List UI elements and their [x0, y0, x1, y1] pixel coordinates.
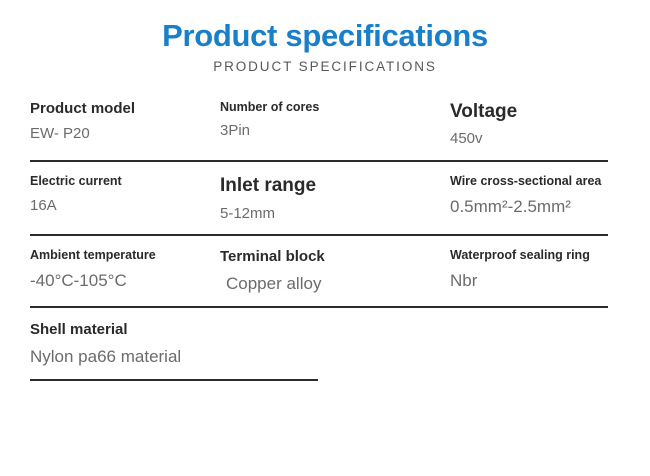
spec-label: Number of cores	[220, 100, 425, 116]
spec-cell-waterproof-sealing-ring: Waterproof sealing ring Nbr	[425, 248, 650, 292]
spec-cell-inlet-range: Inlet range 5-12mm	[210, 174, 425, 223]
spec-label: Voltage	[450, 100, 650, 124]
spec-label: Electric current	[30, 174, 210, 190]
spec-value: Nbr	[450, 270, 650, 292]
spec-label: Inlet range	[220, 174, 425, 198]
spec-label: Ambient temperature	[30, 248, 210, 264]
page-header: Product specifications PRODUCT SPECIFICA…	[0, 0, 650, 74]
spec-cell-terminal-block: Terminal block Copper alloy	[210, 248, 425, 295]
spec-cell-product-model: Product model EW- P20	[0, 100, 210, 144]
spec-row: Shell material Nylon pa66 material	[0, 308, 650, 381]
spec-value: 16A	[30, 196, 210, 216]
spec-row: Product model EW- P20 Number of cores 3P…	[0, 100, 650, 162]
spec-cell-electric-current: Electric current 16A	[0, 174, 210, 215]
spec-value: 450v	[450, 129, 650, 149]
spec-label: Shell material	[30, 321, 420, 340]
spec-cell-shell-material: Shell material Nylon pa66 material	[0, 321, 420, 368]
spec-label: Waterproof sealing ring	[450, 248, 650, 264]
spec-cell-number-of-cores: Number of cores 3Pin	[210, 100, 425, 141]
spec-cell-wire-cross-sectional-area: Wire cross-sectional area 0.5mm²-2.5mm²	[425, 174, 650, 218]
spec-label: Terminal block	[220, 248, 425, 267]
spec-value: -40°C-105°C	[30, 270, 210, 292]
spec-cell-ambient-temperature: Ambient temperature -40°C-105°C	[0, 248, 210, 292]
row-divider	[30, 379, 318, 381]
page-subtitle: PRODUCT SPECIFICATIONS	[0, 59, 650, 74]
spec-value: 3Pin	[220, 121, 425, 141]
specifications-table: Product model EW- P20 Number of cores 3P…	[0, 100, 650, 381]
spec-value: Copper alloy	[220, 273, 425, 295]
spec-label: Product model	[30, 100, 210, 119]
spec-value: EW- P20	[30, 124, 210, 144]
spec-value: Nylon pa66 material	[30, 346, 420, 368]
spec-row: Electric current 16A Inlet range 5-12mm …	[0, 162, 650, 236]
spec-value: 0.5mm²-2.5mm²	[450, 196, 650, 218]
spec-row: Ambient temperature -40°C-105°C Terminal…	[0, 236, 650, 308]
spec-value: 5-12mm	[220, 204, 425, 224]
spec-label: Wire cross-sectional area	[450, 174, 650, 190]
spec-cell-voltage: Voltage 450v	[425, 100, 650, 149]
page-title: Product specifications	[0, 18, 650, 54]
